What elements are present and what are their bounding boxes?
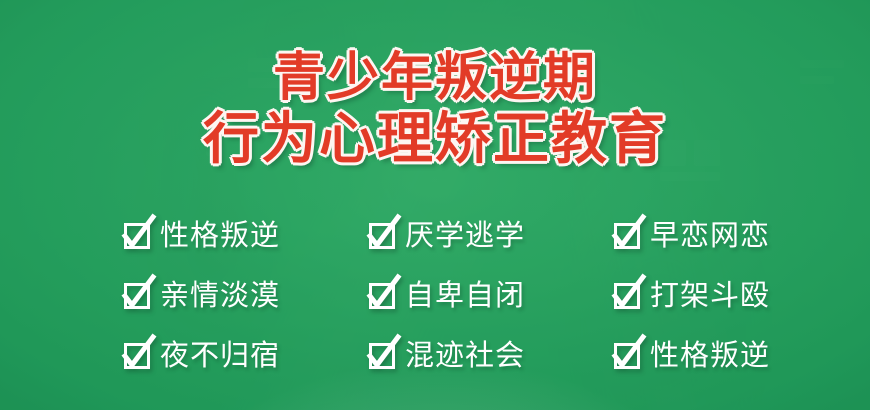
checklist-item[interactable]: 打架斗殴 [612,280,762,311]
checklist-item[interactable]: 性格叛逆 [612,340,762,371]
checklist-item[interactable]: 亲情淡漠 [122,280,367,311]
headline-line-2: 行为心理矫正教育 [0,112,870,168]
checked-checkbox-icon[interactable] [122,280,153,311]
checked-checkbox-icon[interactable] [612,280,643,311]
promo-banner: 青少年叛逆期 行为心理矫正教育 性格叛逆 厌学逃学 早恋网恋 [0,0,870,410]
checklist-item[interactable]: 性格叛逆 [122,220,367,251]
checked-checkbox-icon[interactable] [122,220,153,251]
checklist-item-label: 打架斗殴 [650,281,770,310]
checklist-item-label: 自卑自闭 [405,281,525,310]
headline-line-1: 青少年叛逆期 [0,52,870,104]
checklist-item-label: 夜不归宿 [160,341,280,370]
checklist-item-label: 厌学逃学 [405,221,525,250]
checklist-item-label: 性格叛逆 [650,341,770,370]
headline: 青少年叛逆期 行为心理矫正教育 [0,52,870,168]
checked-checkbox-icon[interactable] [367,280,398,311]
symptom-checklist: 性格叛逆 厌学逃学 早恋网恋 亲情淡漠 [122,205,762,385]
checklist-item-label: 性格叛逆 [160,221,280,250]
checklist-item[interactable]: 夜不归宿 [122,340,367,371]
checked-checkbox-icon[interactable] [612,220,643,251]
checklist-item[interactable]: 早恋网恋 [612,220,762,251]
checklist-item[interactable]: 自卑自闭 [367,280,612,311]
checklist-item[interactable]: 厌学逃学 [367,220,612,251]
checked-checkbox-icon[interactable] [612,340,643,371]
checklist-item-label: 早恋网恋 [650,221,770,250]
checklist-item-label: 亲情淡漠 [160,281,280,310]
checked-checkbox-icon[interactable] [122,340,153,371]
checked-checkbox-icon[interactable] [367,220,398,251]
checklist-item[interactable]: 混迹社会 [367,340,612,371]
checked-checkbox-icon[interactable] [367,340,398,371]
checklist-item-label: 混迹社会 [405,341,525,370]
